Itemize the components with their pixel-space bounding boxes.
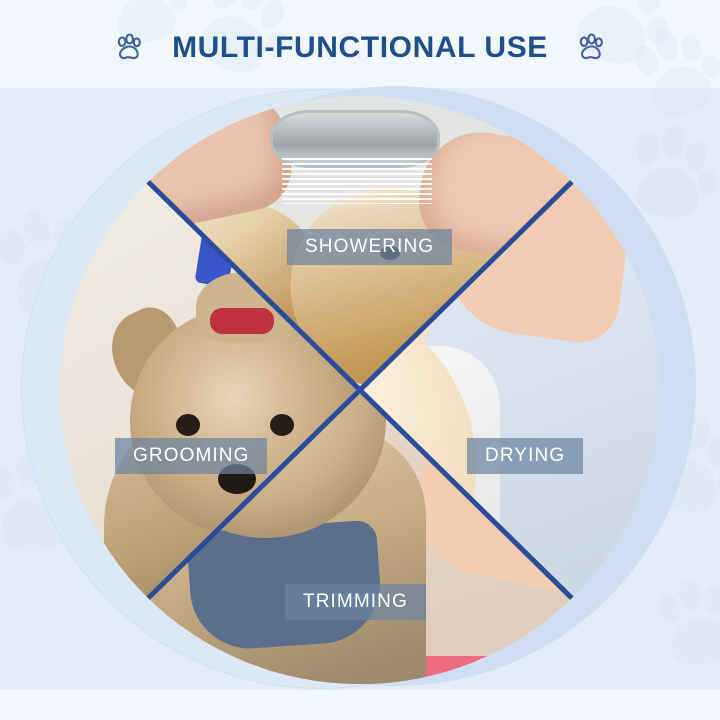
page-header: MULTI-FUNCTIONAL USE [0, 24, 720, 72]
page-title: MULTI-FUNCTIONAL USE [172, 31, 548, 65]
poster-canvas: MULTI-FUNCTIONAL USE [0, 0, 720, 720]
background-band-bottom [0, 690, 720, 720]
paw-icon [114, 33, 144, 63]
paw-icon [576, 33, 606, 63]
label-grooming: GROOMING [115, 438, 267, 474]
label-showering: SHOWERING [287, 229, 452, 265]
label-drying: DRYING [467, 438, 583, 474]
label-trimming: TRIMMING [285, 584, 426, 620]
